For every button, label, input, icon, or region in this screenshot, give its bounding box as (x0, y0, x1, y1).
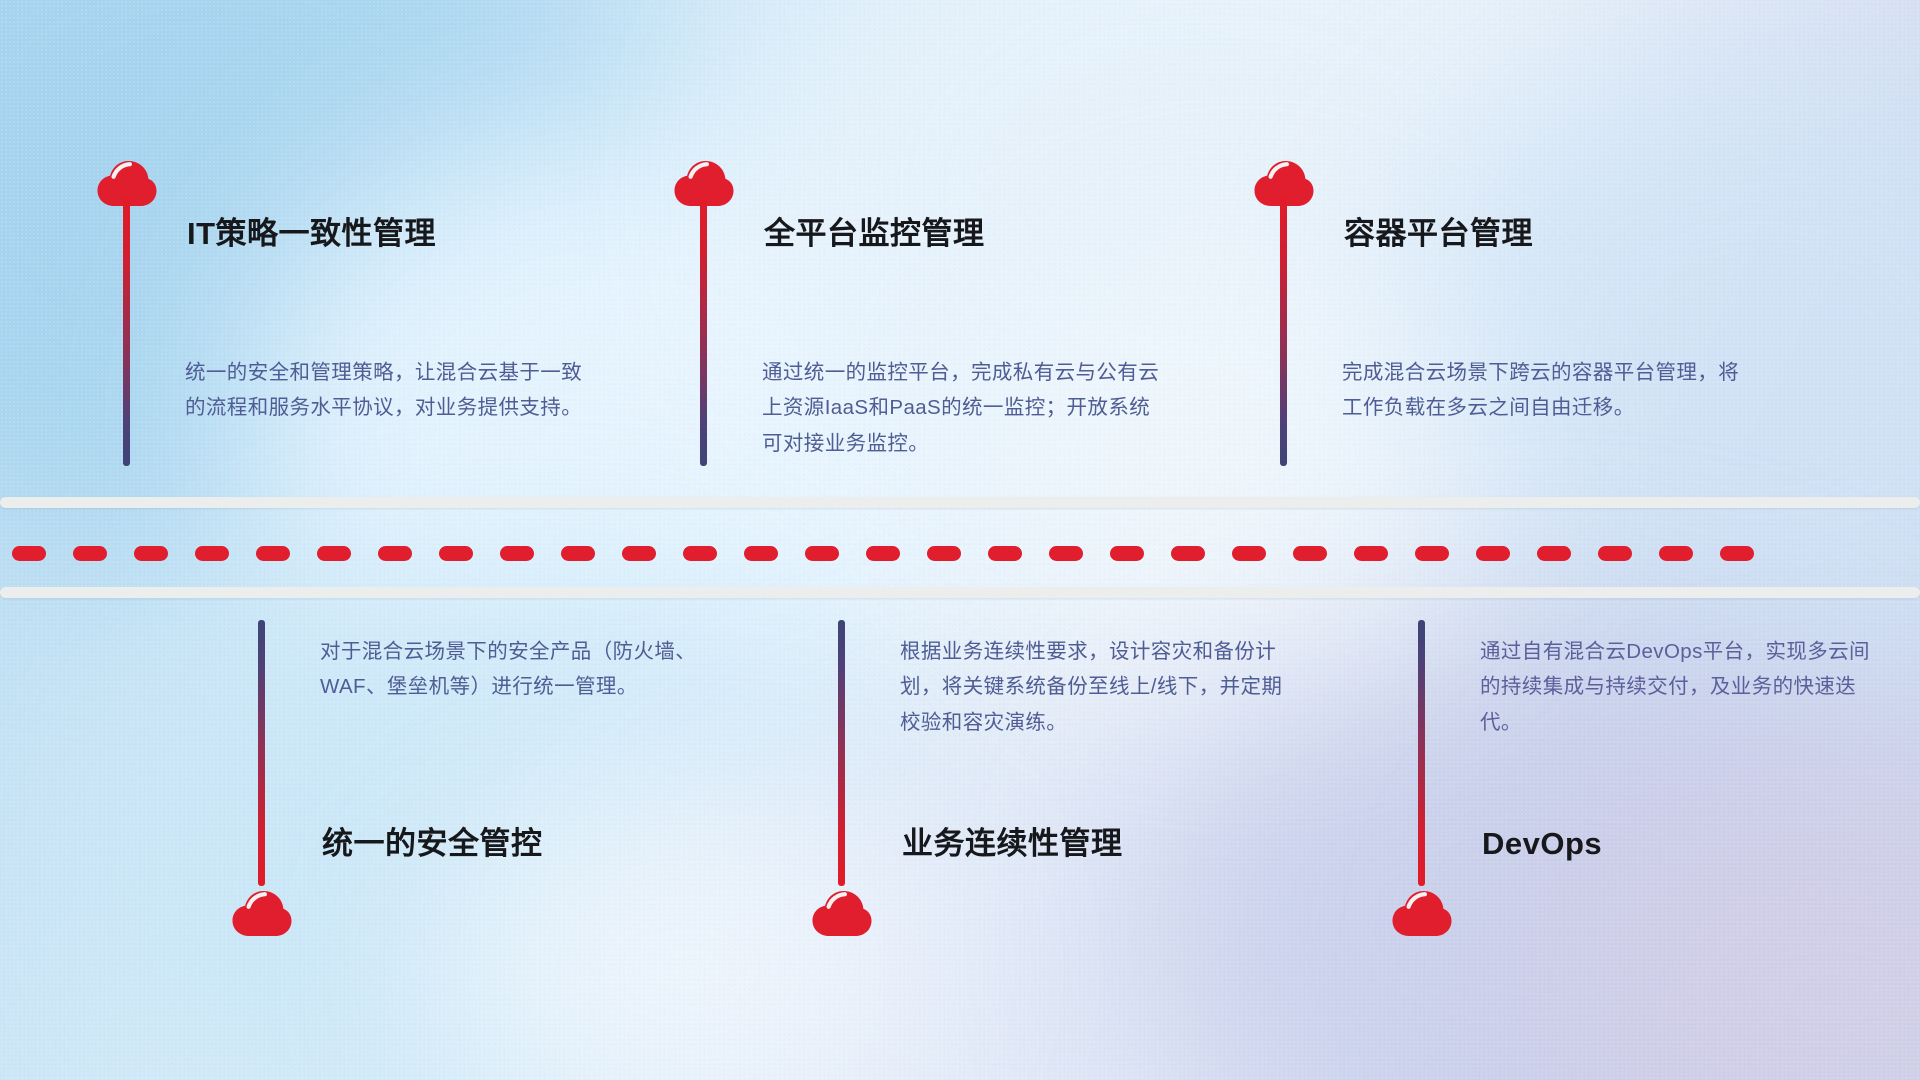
divider-dash (1415, 546, 1449, 561)
divider-dash (500, 546, 534, 561)
divider-dash (1049, 546, 1083, 561)
divider-dash (317, 546, 351, 561)
divider-dash (1110, 546, 1144, 561)
pillar-title: 统一的安全管控 (322, 828, 543, 859)
pillar-title: 全平台监控管理 (764, 218, 985, 249)
pillar-title: IT策略一致性管理 (187, 218, 436, 249)
pillar-description: 根据业务连续性要求，设计容灾和备份计划，将关键系统备份至线上/线下，并定期校验和… (900, 634, 1300, 740)
divider-dash (1720, 546, 1754, 561)
divider-rail-bottom (0, 587, 1920, 598)
divider-dash (1293, 546, 1327, 561)
pillar-stem (123, 198, 130, 466)
divider-dash (1659, 546, 1693, 561)
pillar-title: 容器平台管理 (1344, 218, 1533, 249)
cloud-pin-icon (811, 888, 873, 938)
divider-rail-top (0, 497, 1920, 508)
pillar-stem (700, 198, 707, 466)
divider-dash (1171, 546, 1205, 561)
divider-dash (134, 546, 168, 561)
divider-dash (561, 546, 595, 561)
divider-dash (1476, 546, 1510, 561)
divider-dashed-line (0, 545, 1920, 561)
background-blob (620, 700, 1520, 1080)
infographic-canvas: IT策略一致性管理 统一的安全和管理策略，让混合云基于一致的流程和服务水平协议，… (0, 0, 1920, 1080)
divider-dash (195, 546, 229, 561)
pillar-description: 对于混合云场景下的安全产品（防火墙、WAF、堡垒机等）进行统一管理。 (320, 634, 720, 705)
divider-dash (378, 546, 412, 561)
divider-dash (1598, 546, 1632, 561)
divider-dash (1354, 546, 1388, 561)
pillar-description: 完成混合云场景下跨云的容器平台管理，将工作负载在多云之间自由迁移。 (1342, 355, 1742, 426)
divider-dash (927, 546, 961, 561)
divider-dash (439, 546, 473, 561)
pillar-stem (838, 620, 845, 886)
pillar-stem (1418, 620, 1425, 886)
cloud-pin-icon (1391, 888, 1453, 938)
cloud-pin-icon (231, 888, 293, 938)
pillar-description: 通过自有混合云DevOps平台，实现多云间的持续集成与持续交付，及业务的快速迭代… (1480, 634, 1880, 740)
background-blob (0, 0, 660, 560)
divider-dash (256, 546, 290, 561)
divider-dash (1537, 546, 1571, 561)
pillar-title: DevOps (1482, 828, 1602, 859)
divider-dash (683, 546, 717, 561)
pillar-stem (1280, 198, 1287, 466)
divider-dash (866, 546, 900, 561)
divider-dash (12, 546, 46, 561)
divider-dash (988, 546, 1022, 561)
divider-dash (1232, 546, 1266, 561)
divider-dash (805, 546, 839, 561)
pillar-description: 通过统一的监控平台，完成私有云与公有云上资源IaaS和PaaS的统一监控；开放系… (762, 355, 1162, 461)
divider-dash (622, 546, 656, 561)
pillar-stem (258, 620, 265, 886)
pillar-title: 业务连续性管理 (902, 828, 1123, 859)
pillar-description: 统一的安全和管理策略，让混合云基于一致的流程和服务水平协议，对业务提供支持。 (185, 355, 585, 426)
divider-dash (744, 546, 778, 561)
background-blob (1520, 760, 1920, 1080)
divider-dash (73, 546, 107, 561)
